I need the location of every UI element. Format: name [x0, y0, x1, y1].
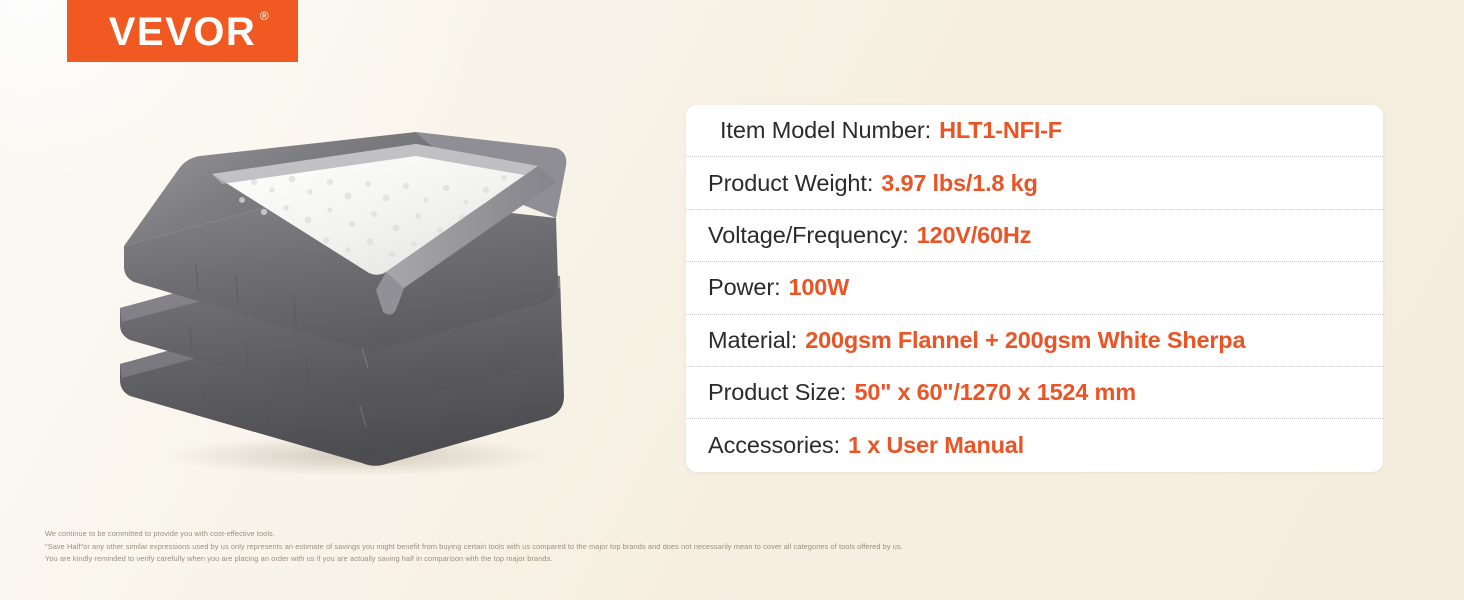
spec-row-product-size: Product Size: 50" x 60"/1270 x 1524 mm	[686, 367, 1383, 419]
registered-trademark-icon: ®	[260, 10, 270, 22]
spec-label: Voltage/Frequency:	[708, 222, 909, 249]
spec-row-material: Material: 200gsm Flannel + 200gsm White …	[686, 315, 1383, 367]
spec-label: Product Size:	[708, 379, 846, 406]
spec-label: Accessories:	[708, 432, 840, 459]
spec-label: Material:	[708, 327, 797, 354]
spec-value: 120V/60Hz	[917, 222, 1031, 249]
spec-row-power: Power: 100W	[686, 262, 1383, 314]
spec-label: Power:	[708, 274, 781, 301]
disclaimer-line-3: You are kindly reminded to verify carefu…	[45, 553, 1145, 566]
spec-value: 100W	[789, 274, 850, 301]
spec-value: HLT1-NFI-F	[939, 117, 1062, 144]
spec-value: 50" x 60"/1270 x 1524 mm	[854, 379, 1135, 406]
spec-row-voltage-frequency: Voltage/Frequency: 120V/60Hz	[686, 210, 1383, 262]
disclaimer-line-2: "Save Half"or any other similar expressi…	[45, 541, 1145, 554]
disclaimer-line-1: We continue to be committed to provide y…	[45, 528, 1145, 541]
vevor-wordmark: VEVOR®	[109, 12, 257, 52]
product-image	[86, 96, 606, 476]
vevor-logo: VEVOR®	[67, 0, 298, 62]
spec-label: Product Weight:	[708, 170, 873, 197]
spec-label: Item Model Number:	[720, 117, 931, 144]
spec-value: 200gsm Flannel + 200gsm White Sherpa	[805, 327, 1245, 354]
spec-row-accessories: Accessories: 1 x User Manual	[686, 419, 1383, 471]
product-infographic-page: VEVOR®	[0, 0, 1464, 600]
spec-row-product-weight: Product Weight: 3.97 lbs/1.8 kg	[686, 157, 1383, 209]
specifications-card: Item Model Number: HLT1-NFI-F Product We…	[686, 105, 1383, 472]
legal-disclaimer: We continue to be committed to provide y…	[45, 528, 1145, 566]
spec-row-item-model-number: Item Model Number: HLT1-NFI-F	[686, 105, 1383, 157]
spec-value: 3.97 lbs/1.8 kg	[881, 170, 1037, 197]
spec-value: 1 x User Manual	[848, 432, 1024, 459]
